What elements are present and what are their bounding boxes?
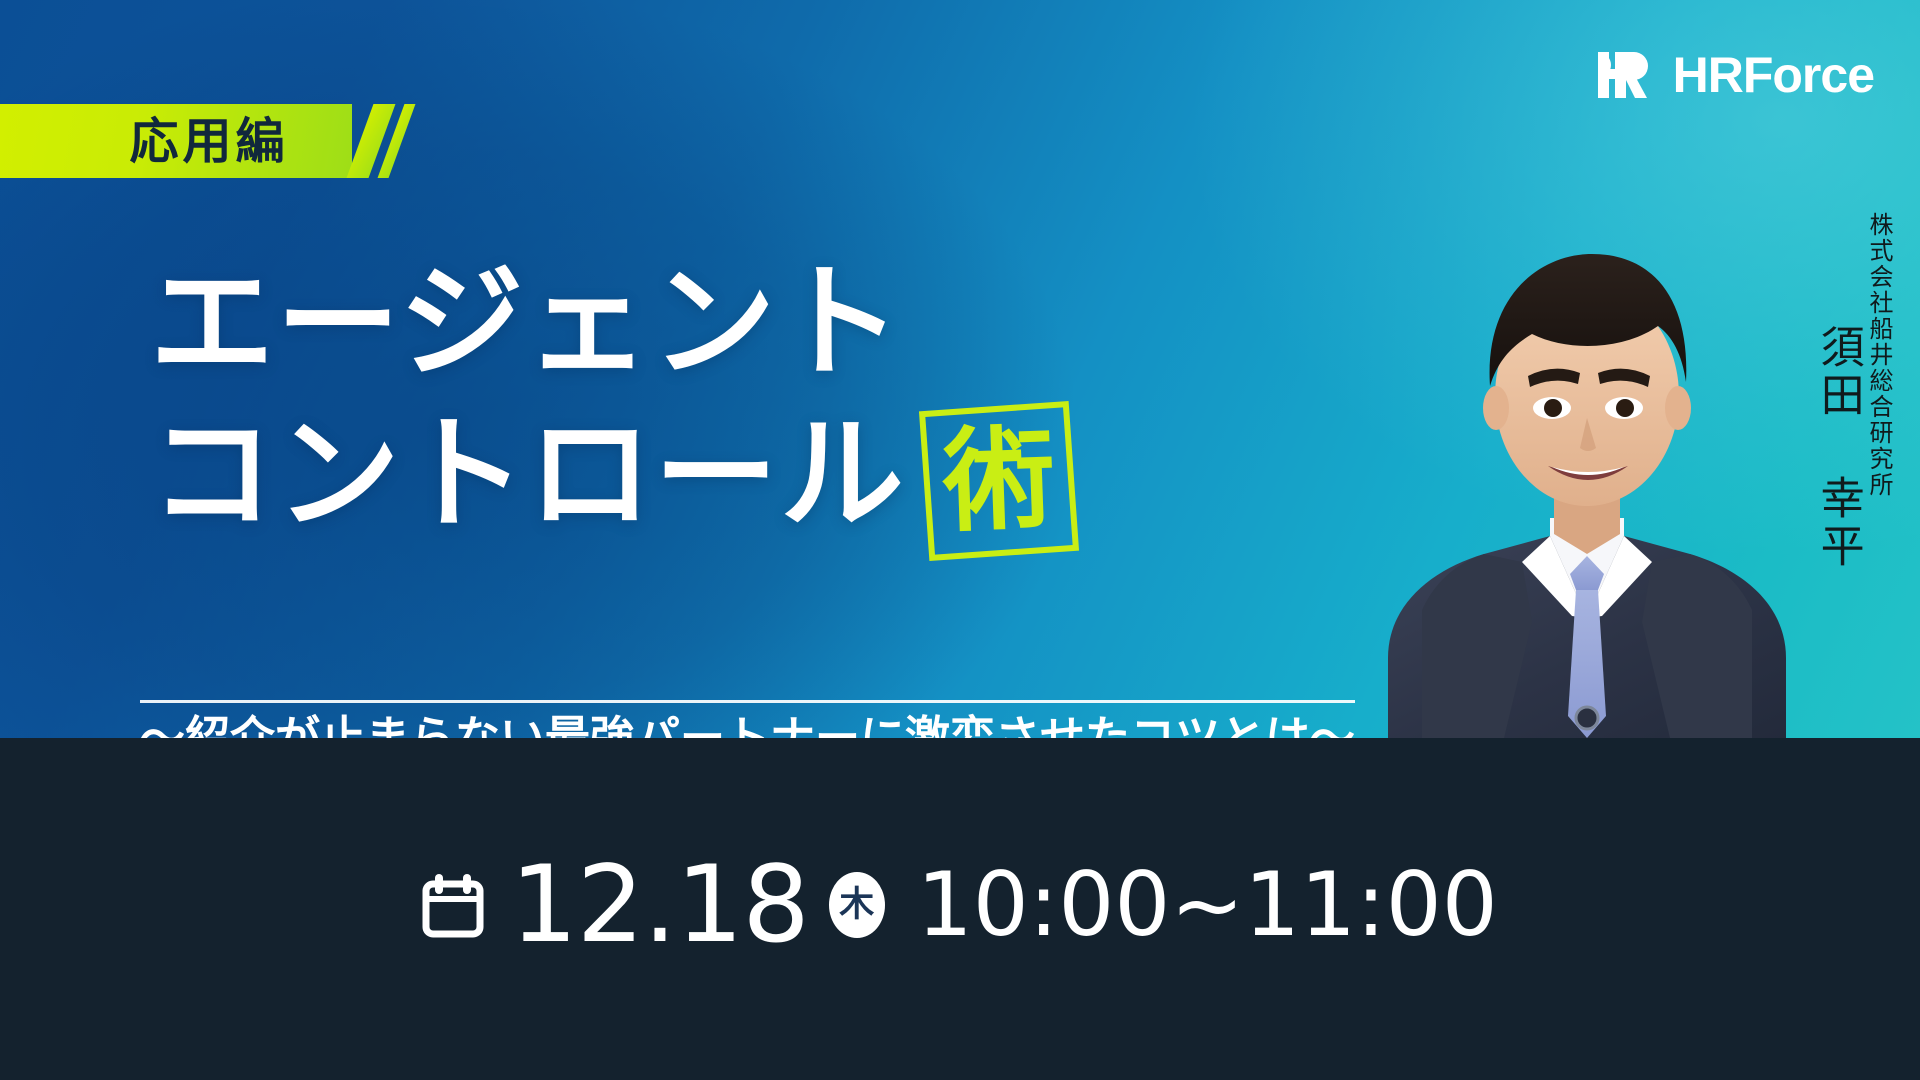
category-badge: 応用編 <box>0 104 352 178</box>
schedule-time: 10:00~11:00 <box>917 861 1498 949</box>
hrforce-monogram-icon <box>1595 46 1657 104</box>
category-badge-group: 応用編 <box>0 104 402 178</box>
calendar-icon <box>422 872 484 938</box>
hrforce-logo[interactable]: HRForce <box>1595 46 1874 104</box>
category-badge-label: 応用編 <box>129 117 288 166</box>
schedule-bar: 12.18 木 10:00~11:00 <box>0 738 1920 1080</box>
hrforce-logo-text: HRForce <box>1673 50 1874 100</box>
speaker-name: 須田 幸平 <box>1814 324 1862 571</box>
schedule-weekday-badge: 木 <box>829 872 885 938</box>
boxed-accent-character-label: 術 <box>941 423 1057 539</box>
schedule-date: 12.18 <box>510 852 808 958</box>
title-line-2: コントロール <box>150 404 906 548</box>
speaker-credit: 株式会社船井総合研究所 須田 幸平 <box>1814 212 1892 571</box>
speaker-portrait <box>1372 218 1802 738</box>
boxed-accent-character: 術 <box>919 401 1079 561</box>
schedule-group: 12.18 木 10:00~11:00 <box>422 852 1497 958</box>
title-line-1: エージェント <box>150 252 1350 396</box>
webinar-banner: 応用編 HRForce エージェント コントロール 術 〜紹介が止まらない最強パ… <box>0 0 1920 1080</box>
title-block: エージェント コントロール 術 <box>150 252 1350 556</box>
title-line-2-row: コントロール 術 <box>150 396 1350 556</box>
speaker-company: 株式会社船井総合研究所 <box>1866 212 1892 498</box>
